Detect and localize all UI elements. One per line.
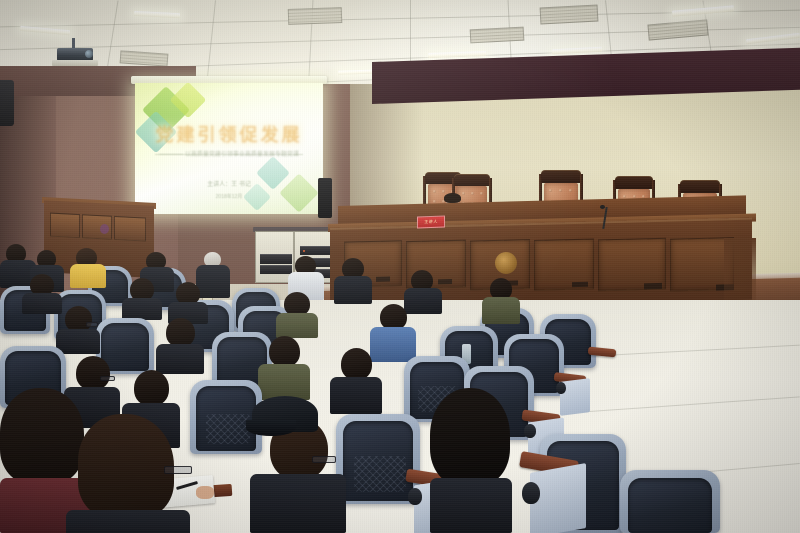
wall-speaker-icon — [318, 178, 332, 218]
bench-hardware — [644, 283, 662, 289]
audience-person — [482, 278, 520, 324]
slide-title: 党建引领促发展 — [145, 121, 313, 147]
person-head — [76, 356, 110, 390]
audience-person — [258, 336, 310, 400]
person-head — [430, 388, 510, 486]
left-bench-panel — [114, 216, 146, 242]
person-torso — [276, 313, 318, 338]
eyeglasses — [100, 376, 115, 381]
left-bench-panel — [50, 213, 80, 239]
slide-presenter: 主讲人：王 书记 — [143, 179, 315, 188]
person-head — [134, 370, 169, 406]
audience-person — [334, 258, 372, 304]
auditorium-photo: 党建引领促发展 ———— 以高质量党建引领事业高质量发展专题党课 主讲人：王 书… — [0, 0, 800, 533]
person-head — [166, 318, 195, 347]
hand — [196, 486, 214, 499]
person-head — [78, 414, 174, 518]
av-led — [303, 250, 305, 252]
wall-speaker-icon — [0, 80, 14, 126]
person-torso — [258, 364, 310, 400]
audience-seat — [620, 470, 720, 533]
person-head — [341, 348, 372, 380]
bench-hardware — [376, 277, 390, 282]
ceiling-vent — [288, 7, 343, 25]
audience-person-taking-notes — [60, 414, 190, 533]
left-bench-object — [100, 224, 109, 234]
audience-person — [70, 248, 106, 288]
ceiling-vent — [540, 4, 599, 24]
audience-person — [276, 292, 318, 338]
person-torso — [70, 264, 106, 288]
bench-hardware — [572, 282, 588, 287]
slide-subtitle: ———— 以高质量党建引领事业高质量发展专题党课 — [143, 149, 315, 158]
person-torso — [430, 478, 512, 533]
person-head — [269, 336, 300, 367]
person-torso — [334, 276, 372, 304]
judicial-bench — [330, 218, 752, 310]
person-torso — [482, 297, 520, 324]
cap-brim-icon — [246, 420, 296, 436]
av-unit — [300, 246, 330, 255]
audience-person — [122, 278, 162, 320]
projector-lens-icon — [85, 50, 93, 58]
audience-person — [156, 318, 204, 374]
person-torso — [122, 298, 162, 320]
cup-holder — [522, 482, 540, 504]
audience-person — [430, 388, 512, 533]
presenter-hair — [444, 193, 461, 203]
presenter-nameplate: 主讲人 — [417, 216, 445, 229]
audience-person-with-cap — [246, 396, 362, 533]
person-torso — [66, 510, 190, 533]
projection-screen: 党建引领促发展 ———— 以高质量党建引领事业高质量发展专题党课 主讲人：王 书… — [135, 83, 323, 214]
ceiling-vent — [470, 27, 525, 44]
bench-emblem-icon — [495, 252, 517, 274]
microphone-icon — [600, 205, 605, 209]
eyeglasses — [86, 322, 98, 327]
eyeglasses — [164, 466, 192, 474]
nameplate-text: 主讲人 — [418, 217, 444, 228]
slide-date: 2018年12月 — [143, 193, 315, 200]
